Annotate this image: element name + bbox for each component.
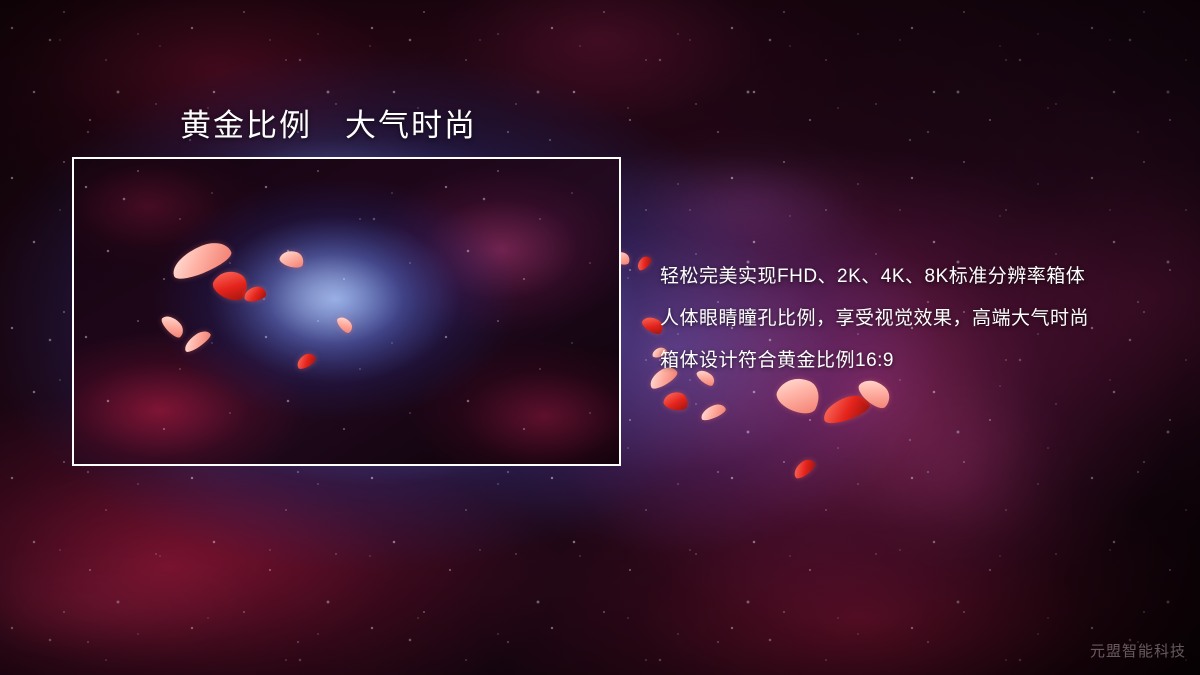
bordered-image-frame [72,157,621,466]
body-line-2: 人体眼睛瞳孔比例，享受视觉效果，高端大气时尚 [660,298,1180,340]
presentation-slide: 黄金比例 大气时尚 轻松完美实现FHD、2K、4K、8K标准分辨率箱体 人体眼睛… [0,0,1200,675]
frame-core-glow [74,159,619,464]
body-line-1: 轻松完美实现FHD、2K、4K、8K标准分辨率箱体 [660,256,1180,298]
petal [699,402,728,423]
petal [635,254,654,272]
body-line-3: 箱体设计符合黄金比例16:9 [660,340,1180,382]
watermark: 元盟智能科技 [1090,640,1186,661]
page-title: 黄金比例 大气时尚 [180,100,477,145]
petal [820,391,872,427]
body-text-block: 轻松完美实现FHD、2K、4K、8K标准分辨率箱体 人体眼睛瞳孔比例，享受视觉效… [660,256,1180,382]
image-frame-content [74,159,619,464]
petal [662,389,690,412]
petal [790,456,817,481]
